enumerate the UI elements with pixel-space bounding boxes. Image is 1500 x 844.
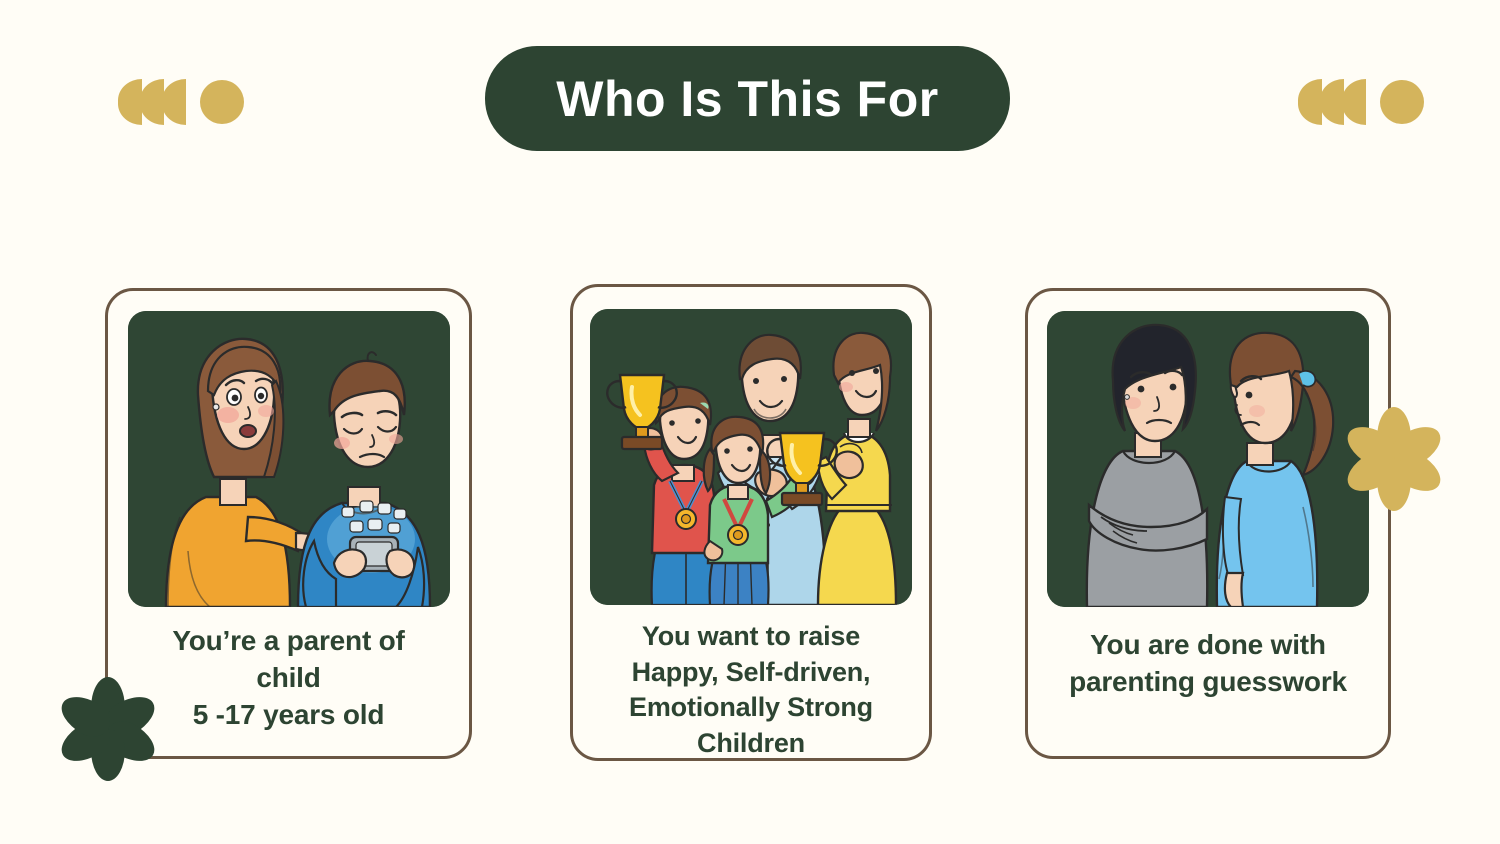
caption-line: You are done with xyxy=(1069,627,1347,664)
card-done-with-guesswork[interactable]: You are done with parenting guesswork xyxy=(1025,288,1391,759)
card-raise-strong-children[interactable]: You want to raise Happy, Self-driven, Em… xyxy=(570,284,932,761)
mother-scolding-boy-on-phone-illustration xyxy=(128,311,450,607)
caption-line: Happy, Self-driven, xyxy=(629,655,873,691)
card-caption: You are done with parenting guesswork xyxy=(1061,627,1355,701)
page-title: Who Is This For xyxy=(556,74,938,124)
mother-and-teen-daughter-facing-each-other-illustration xyxy=(1047,311,1369,607)
gold-circle-shape xyxy=(200,80,244,124)
half-disc-shape xyxy=(162,79,186,125)
illustration-svg xyxy=(1047,311,1369,607)
caption-line: Emotionally Strong xyxy=(629,690,873,726)
caption-line: You’re a parent of xyxy=(172,623,404,660)
caption-line: Children xyxy=(629,726,873,762)
slide-who-is-this-for: Who Is This For xyxy=(0,0,1500,844)
rewind-gold-icon-right xyxy=(1298,78,1424,126)
caption-line: You want to raise xyxy=(629,619,873,655)
card-caption: You want to raise Happy, Self-driven, Em… xyxy=(621,619,881,762)
half-disc-shape xyxy=(118,79,142,125)
half-disc-shape xyxy=(1298,79,1322,125)
card-caption: You’re a parent of child 5 -17 years old xyxy=(164,623,412,734)
caption-line: parenting guesswork xyxy=(1069,664,1347,701)
gold-circle-shape xyxy=(1380,80,1424,124)
happy-family-with-trophies-illustration xyxy=(590,309,912,605)
caption-line: 5 -17 years old xyxy=(172,697,404,734)
illustration-svg xyxy=(590,309,912,605)
page-title-pill: Who Is This For xyxy=(485,46,1010,151)
half-disc-shape xyxy=(1342,79,1366,125)
caption-line: child xyxy=(172,660,404,697)
illustration-svg xyxy=(128,311,450,607)
card-parent-of-child[interactable]: You’re a parent of child 5 -17 years old xyxy=(105,288,472,759)
half-disc-shape xyxy=(140,79,164,125)
rewind-gold-icon-left xyxy=(118,78,244,126)
half-disc-shape xyxy=(1320,79,1344,125)
